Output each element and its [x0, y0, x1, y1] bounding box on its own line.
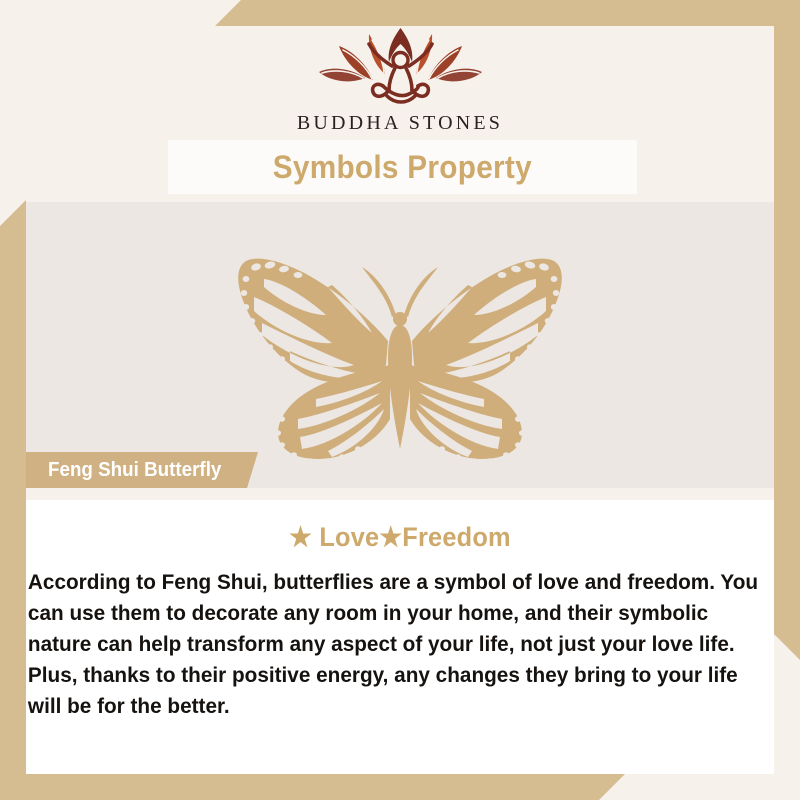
- decorative-band-top: [215, 0, 800, 26]
- decorative-band-left: [0, 200, 26, 800]
- brand-logo: BUDDHA STONES: [26, 26, 774, 141]
- page-title: Symbols Property: [273, 149, 532, 186]
- decorative-band-right: [774, 0, 800, 660]
- star-icon-left: ★: [289, 522, 312, 552]
- star-icon-mid: ★: [379, 522, 402, 552]
- promo-graphic: BUDDHA STONES Symbols Property: [0, 0, 800, 800]
- subhead-word-freedom: Freedom: [402, 522, 511, 552]
- lotus-meditation-figure-icon: [313, 28, 488, 110]
- description-panel: ★ Love★Freedom According to Feng Shui, b…: [26, 500, 774, 738]
- tag-gap-strip: [26, 488, 774, 500]
- title-banner: Symbols Property: [168, 140, 637, 194]
- content-card: BUDDHA STONES Symbols Property: [26, 26, 774, 774]
- subhead-word-love: Love: [319, 522, 379, 552]
- description-paragraph: According to Feng Shui, butterflies are …: [26, 567, 771, 722]
- butterfly-icon: [220, 223, 580, 469]
- category-tag-label: Feng Shui Butterfly: [48, 459, 221, 482]
- section-subhead: ★ Love★Freedom: [48, 522, 751, 553]
- brand-wordmark: BUDDHA STONES: [297, 112, 503, 135]
- hero-illustration-panel: [26, 202, 774, 490]
- decorative-band-bottom: [0, 774, 625, 800]
- category-tag: Feng Shui Butterfly: [26, 452, 258, 488]
- panel-bottom-fill: [26, 738, 774, 774]
